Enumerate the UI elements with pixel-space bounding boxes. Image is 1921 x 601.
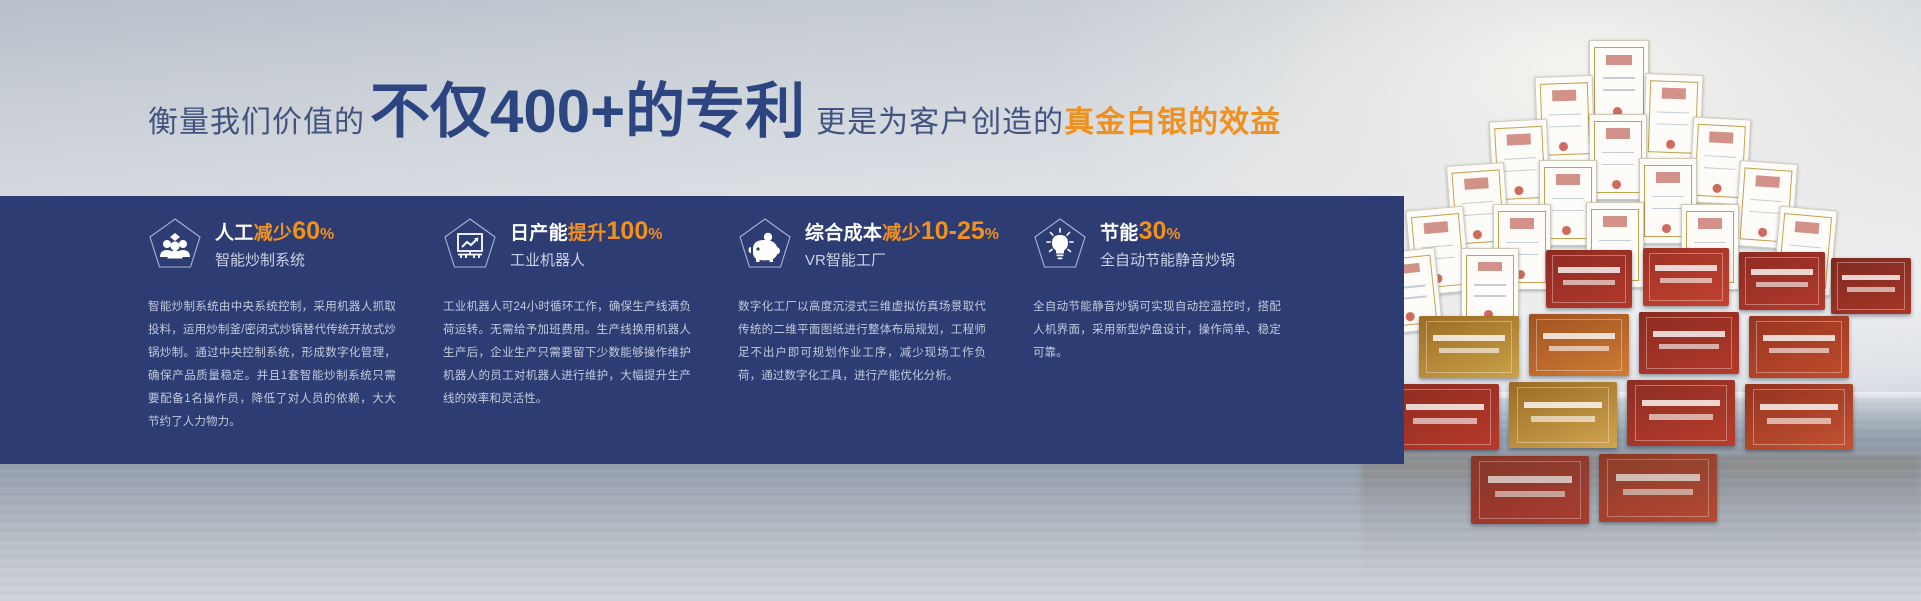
- feature-title-emphasis: 减少: [254, 223, 293, 244]
- feature-body-text: 工业机器人可24小时循环工作，确保生产线满负荷运转。无需给予加班费用。生产线换用…: [443, 296, 691, 411]
- feature-title: 综合成本减少10-25%: [805, 216, 999, 247]
- award-plaque: [1739, 252, 1825, 310]
- feature-title-prefix: 节能: [1100, 223, 1139, 244]
- feature-subtitle: 全自动节能静音炒锅: [1100, 250, 1235, 273]
- page-title: 衡量我们价值的 不仅400+的专利 更是为客户创造的 真金白银的效益: [148, 74, 1448, 142]
- award-plaque: [1546, 250, 1632, 308]
- headline-prefix: 衡量我们价值的: [148, 108, 365, 142]
- feature-subtitle: VR智能工厂: [805, 250, 999, 273]
- feature-body-text: 全自动节能静音炒锅可实现自动控温控时，搭配人机界面，采用新型炉盘设计，操作简单、…: [1033, 296, 1281, 365]
- feature-title-number: 10-25: [921, 217, 985, 245]
- feature-card-cost-reduction: 综合成本减少10-25% VR智能工厂 数字化工厂以高度沉浸式三维虚拟仿真场景取…: [738, 196, 1033, 464]
- feature-title-prefix: 综合成本: [805, 223, 882, 244]
- features-panel: 人工减少60% 智能炒制系统 智能炒制系统由中央系统控制，采用机器人抓取投料，运…: [0, 196, 1404, 464]
- feature-title-prefix: 人工: [215, 223, 254, 244]
- headline-accent: 真金白银的效益: [1064, 108, 1281, 142]
- feature-title: 日产能提升100%: [510, 216, 663, 247]
- feature-card-capacity-increase: 日产能提升100% 工业机器人 工业机器人可24小时循环工作，确保生产线满负荷运…: [443, 196, 738, 464]
- award-plaque: [1529, 314, 1629, 376]
- feature-title-number: 30: [1139, 217, 1167, 245]
- feature-title-emphasis: 提升: [568, 223, 607, 244]
- feature-title-prefix: 日产能: [510, 223, 568, 244]
- feature-card-energy-saving: 节能30% 全自动节能静音炒锅 全自动节能静音炒锅可实现自动控温控时，搭配人机界…: [1033, 196, 1328, 464]
- feature-body-text: 智能炒制系统由中央系统控制，采用机器人抓取投料，运用炒制釜/密闭式炒锅替代传统开…: [148, 296, 396, 434]
- award-plaque: [1627, 380, 1735, 446]
- feature-title-number: 100: [607, 217, 649, 245]
- feature-subtitle: 工业机器人: [510, 250, 663, 273]
- award-plaque: [1831, 258, 1911, 314]
- feature-title-emphasis: 减少: [882, 223, 921, 244]
- feature-subtitle: 智能炒制系统: [215, 250, 335, 273]
- award-plaque: [1745, 384, 1853, 450]
- feature-title-percent: %: [985, 226, 1000, 243]
- chart-board-icon: [443, 217, 497, 271]
- award-plaque: [1639, 312, 1739, 374]
- feature-card-labor-reduction: 人工减少60% 智能炒制系统 智能炒制系统由中央系统控制，采用机器人抓取投料，运…: [148, 196, 443, 464]
- headline-middle: 更是为客户创造的: [816, 108, 1064, 142]
- feature-title-percent: %: [320, 226, 335, 243]
- feature-title: 节能30%: [1100, 216, 1235, 247]
- headline-highlight: 不仅400+的专利: [370, 82, 805, 142]
- award-plaque: [1419, 316, 1519, 378]
- award-plaque: [1509, 382, 1617, 448]
- award-plaque: [1749, 316, 1849, 378]
- feature-title: 人工减少60%: [215, 216, 335, 247]
- feature-title-percent: %: [648, 226, 663, 243]
- people-group-icon: [148, 217, 202, 271]
- piggy-bank-icon: [738, 217, 792, 271]
- award-plaque: [1391, 384, 1499, 450]
- feature-body-text: 数字化工厂以高度沉浸式三维虚拟仿真场景取代传统的二维平面图纸进行整体布局规划，工…: [738, 296, 986, 388]
- feature-title-number: 60: [292, 217, 320, 245]
- light-bulb-icon: [1033, 217, 1087, 271]
- award-plaque: [1643, 248, 1729, 306]
- feature-title-percent: %: [1166, 226, 1181, 243]
- certificate-wall-reflection: [1361, 455, 1921, 575]
